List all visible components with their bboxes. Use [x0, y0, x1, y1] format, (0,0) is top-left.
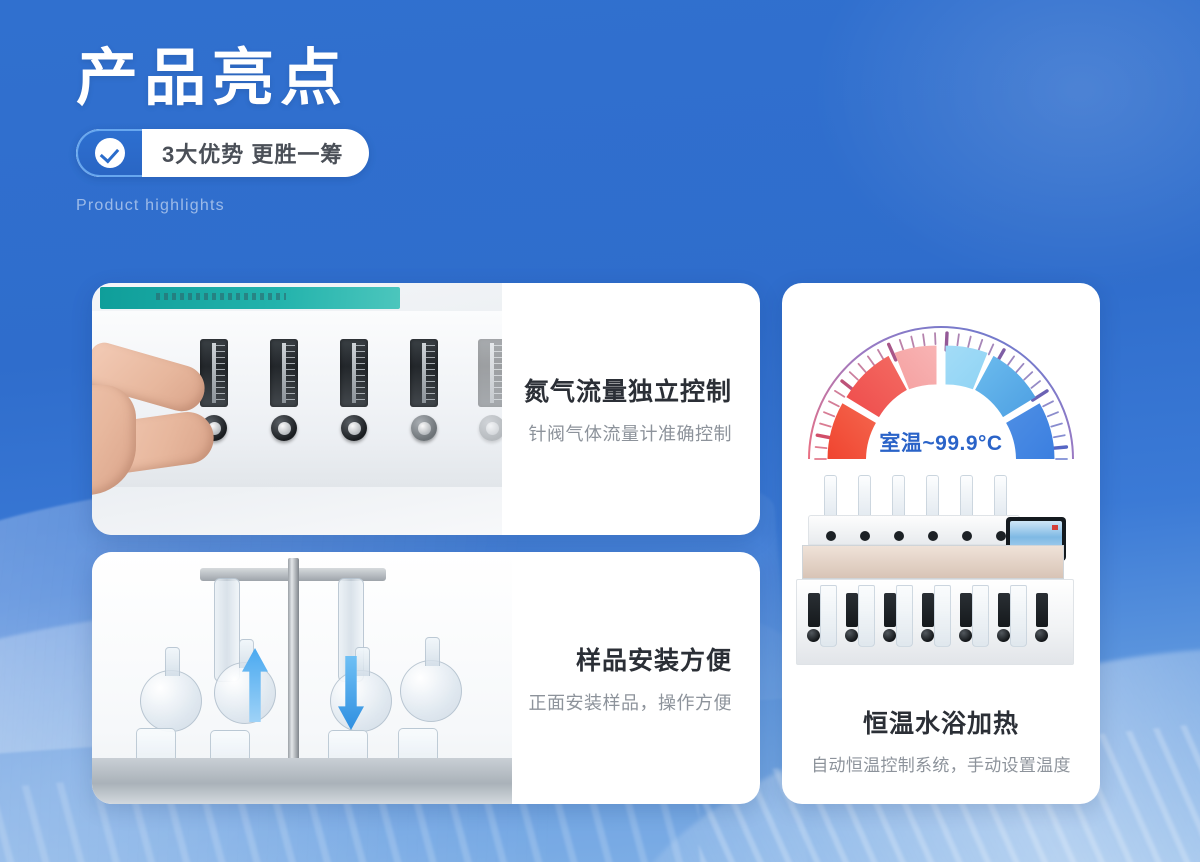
front-flowmeter-3	[884, 593, 896, 627]
instrument-label-banner	[100, 287, 400, 309]
front-knob-6	[997, 629, 1010, 642]
product-highlights-page: 产品亮点 3大优势 更胜一筹 Product highlights	[0, 0, 1200, 862]
unit-upper-housing	[808, 515, 1020, 545]
front-flowmeter-6	[998, 593, 1010, 627]
lower-glass-tube-4	[934, 585, 951, 647]
upper-glass-tube-6	[994, 475, 1007, 519]
upper-glass-tube-4	[926, 475, 939, 519]
front-flowmeter-2	[846, 593, 858, 627]
flask-far-right	[400, 660, 462, 722]
card-text-sample-install: 样品安装方便 正面安装样品，操作方便	[529, 641, 733, 715]
sink-basin	[92, 758, 512, 804]
advantage-badge: 3大优势 更胜一筹	[76, 129, 369, 177]
lower-glass-tube-5	[972, 585, 989, 647]
card-title: 样品安装方便	[529, 641, 733, 677]
front-knob-5	[959, 629, 972, 642]
front-knob-7	[1035, 629, 1048, 642]
valve-6	[996, 531, 1006, 541]
gauge-temperature-label: 室温~99.9°C	[782, 427, 1100, 457]
front-knob-3	[883, 629, 896, 642]
card-text-nitrogen-flow: 氮气流量独立控制 针阀气体流量计准确控制	[524, 372, 732, 446]
highlight-card-sample-install: 样品安装方便 正面安装样品，操作方便	[92, 552, 760, 804]
flask-far-left	[140, 670, 202, 732]
flask-right	[330, 670, 392, 732]
water-bath-tank	[802, 545, 1064, 579]
check-circle-icon	[95, 138, 125, 168]
valve-1	[826, 531, 836, 541]
front-knob-1	[807, 629, 820, 642]
front-flowmeter-7	[1036, 593, 1048, 627]
card-title: 恒温水浴加热	[782, 704, 1100, 740]
lower-glass-tube-6	[1010, 585, 1027, 647]
lower-glass-tube-3	[896, 585, 913, 647]
upper-glass-tube-1	[824, 475, 837, 519]
badge-label: 3大优势 更胜一筹	[142, 129, 369, 177]
flowmeter-panel-photo	[92, 283, 502, 535]
card-text-water-bath: 恒温水浴加热 自动恒温控制系统，手动设置温度	[782, 704, 1100, 776]
valve-4	[928, 531, 938, 541]
valve-5	[962, 531, 972, 541]
front-flowmeter-4	[922, 593, 934, 627]
highlight-card-water-bath: 室温~99.9°C	[782, 283, 1100, 804]
lower-glass-tube-2	[858, 585, 875, 647]
flowmeter-4	[410, 339, 438, 441]
background-glow-top-right	[800, 0, 1200, 300]
front-flowmeter-5	[960, 593, 972, 627]
front-knob-2	[845, 629, 858, 642]
highlight-card-nitrogen-flow: 氮气流量独立控制 针阀气体流量计准确控制	[92, 283, 760, 535]
front-knob-4	[921, 629, 934, 642]
page-header: 产品亮点 3大优势 更胜一筹 Product highlights	[76, 46, 369, 215]
card-title: 氮气流量独立控制	[524, 372, 732, 408]
card-description: 自动恒温控制系统，手动设置温度	[782, 751, 1100, 776]
card-description: 正面安装样品，操作方便	[529, 689, 733, 715]
lower-glass-tube-1	[820, 585, 837, 647]
hand-adjusting-knob	[92, 361, 236, 511]
glassware-assembly-photo	[92, 552, 512, 804]
valve-3	[894, 531, 904, 541]
valve-2	[860, 531, 870, 541]
flowmeter-5	[478, 339, 502, 441]
upper-glass-tube-2	[858, 475, 871, 519]
card-description: 针阀气体流量计准确控制	[524, 420, 732, 446]
flowmeter-2	[270, 339, 298, 441]
stand-pole	[288, 558, 299, 786]
upper-glass-tube-5	[960, 475, 973, 519]
page-title: 产品亮点	[76, 46, 369, 113]
page-subtitle: Product highlights	[76, 197, 369, 215]
flowmeter-3	[340, 339, 368, 441]
upper-glass-tube-3	[892, 475, 905, 519]
front-flowmeter-1	[808, 593, 820, 627]
distillation-unit-photo	[782, 473, 1100, 698]
badge-icon-area	[76, 129, 142, 177]
